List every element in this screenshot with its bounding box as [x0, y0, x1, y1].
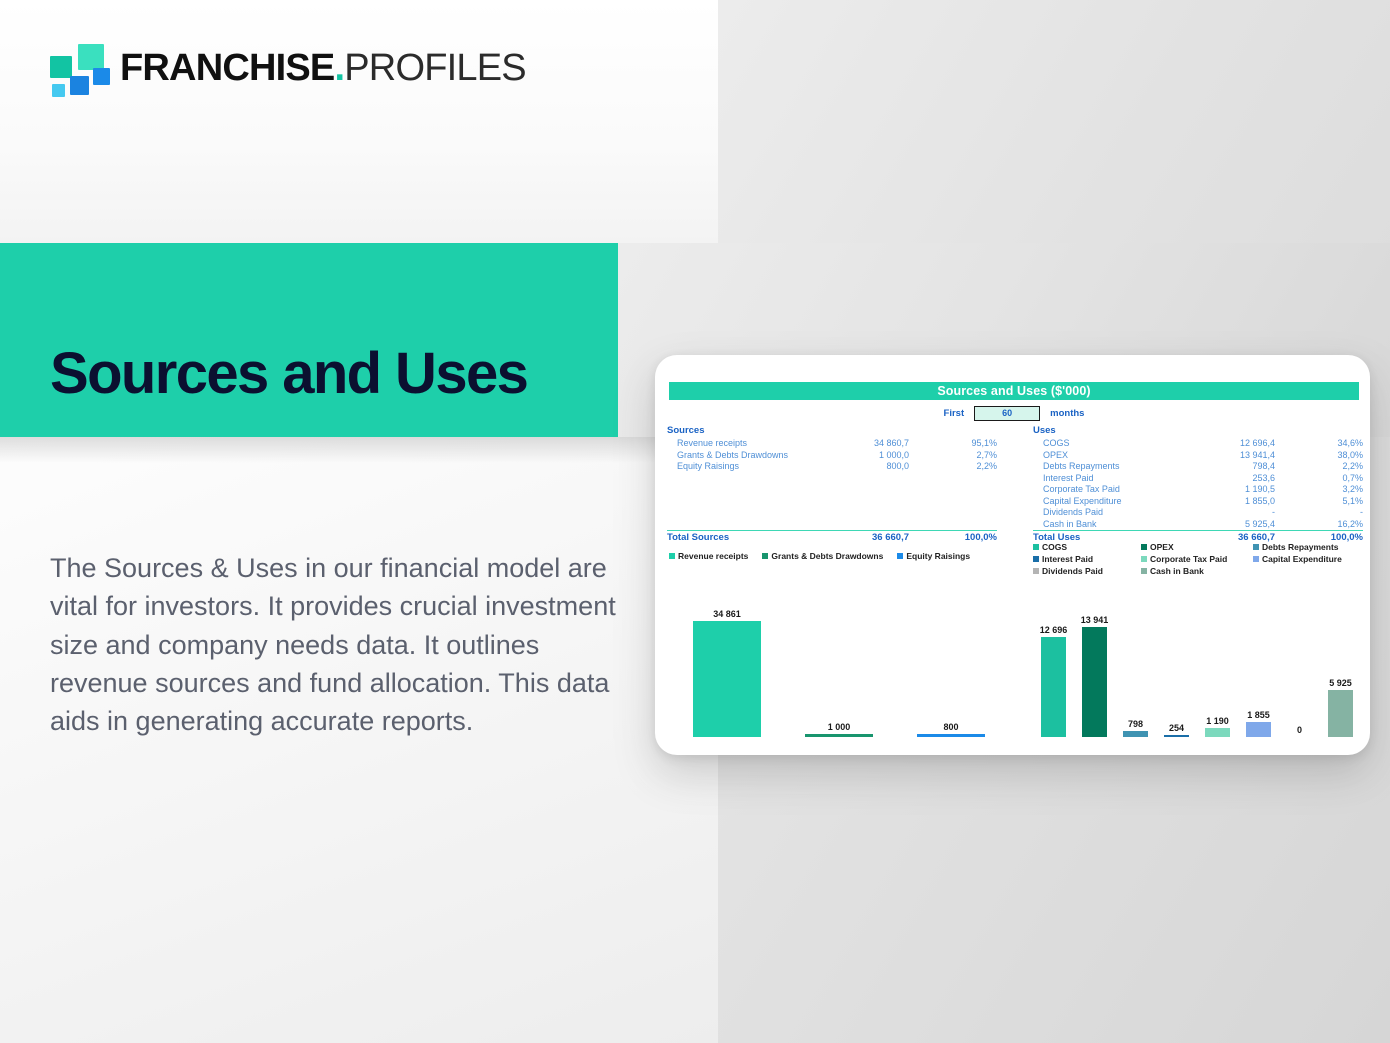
sources-legend-swatch	[669, 553, 675, 559]
sources-bar-value: 1 000	[828, 722, 851, 732]
uses-row: COGS12 696,434,6%	[1033, 438, 1363, 450]
logo-squares-icon	[48, 42, 106, 94]
uses-row: Capital Expenditure1 855,05,1%	[1033, 496, 1363, 508]
body-paragraph: The Sources & Uses in our financial mode…	[50, 549, 630, 741]
background-left-upper	[0, 0, 718, 243]
uses-row-name: Corporate Tax Paid	[1033, 484, 1203, 496]
sources-legend-label: Revenue receipts	[678, 551, 748, 561]
page-title: Sources and Uses	[50, 344, 670, 405]
uses-bar-column: 798	[1115, 597, 1156, 737]
uses-row-percent: 0,7%	[1301, 473, 1363, 485]
sources-bar-value: 800	[943, 722, 958, 732]
sources-row: Revenue receipts34 860,795,1%	[667, 438, 997, 450]
uses-legend-item: Capital Expenditure	[1253, 554, 1363, 564]
uses-legend-swatch	[1033, 544, 1039, 550]
brand-name-bold: FRANCHISE	[120, 47, 334, 89]
sources-chart-legend: Revenue receiptsGrants & Debts Drawdowns…	[669, 551, 1009, 561]
sources-table: Sources Revenue receipts34 860,795,1%Gra…	[667, 425, 997, 544]
uses-bar-value: 1 190	[1206, 716, 1229, 726]
uses-rows: COGS12 696,434,6%OPEX13 941,438,0%Debts …	[1033, 438, 1363, 530]
uses-row: Interest Paid253,60,7%	[1033, 473, 1363, 485]
sources-total-row: Total Sources 36 660,7 100,0%	[667, 530, 997, 544]
uses-row-amount: 798,4	[1203, 461, 1301, 473]
uses-row: Debts Repayments798,42,2%	[1033, 461, 1363, 473]
uses-legend-swatch	[1033, 556, 1039, 562]
uses-row-name: COGS	[1033, 438, 1203, 450]
uses-row-amount: 253,6	[1203, 473, 1301, 485]
uses-legend-label: OPEX	[1150, 542, 1174, 552]
uses-row-amount: 1 190,5	[1203, 484, 1301, 496]
sources-row-name: Equity Raisings	[667, 461, 837, 473]
uses-row-name: Cash in Bank	[1033, 519, 1203, 531]
brand-name-dot: .	[334, 47, 344, 89]
sources-total-percent: 100,0%	[935, 532, 997, 544]
uses-legend-item: Corporate Tax Paid	[1141, 554, 1253, 564]
sources-row: Grants & Debts Drawdowns1 000,02,7%	[667, 450, 997, 462]
uses-legend-label: Corporate Tax Paid	[1150, 554, 1227, 564]
sources-legend-item: Grants & Debts Drawdowns	[762, 551, 883, 561]
sources-row-percent: 2,2%	[935, 461, 997, 473]
uses-row-percent: 2,2%	[1301, 461, 1363, 473]
sources-total-label: Total Sources	[667, 532, 827, 544]
sheet-title-banner: Sources and Uses ($'000)	[669, 382, 1359, 400]
period-suffix-label: months	[1050, 408, 1084, 419]
sources-legend-label: Equity Raisings	[906, 551, 970, 561]
uses-bar	[1205, 728, 1230, 737]
uses-legend-item: OPEX	[1141, 542, 1253, 552]
uses-bar-value: 12 696	[1040, 625, 1068, 635]
uses-row-name: Debts Repayments	[1033, 461, 1203, 473]
uses-row: Dividends Paid--	[1033, 507, 1363, 519]
uses-legend-swatch	[1141, 568, 1147, 574]
uses-row-amount: 12 696,4	[1203, 438, 1301, 450]
uses-bar-value: 254	[1169, 723, 1184, 733]
sources-legend-swatch	[762, 553, 768, 559]
sources-bars: 34 8611 000800	[671, 597, 1007, 737]
uses-bar-column: 5 925	[1320, 597, 1361, 737]
uses-bar-value: 13 941	[1081, 615, 1109, 625]
sources-total-amount: 36 660,7	[827, 532, 935, 544]
sources-bar	[693, 621, 760, 737]
sources-row-amount: 34 860,7	[837, 438, 935, 450]
uses-chart-legend: COGSOPEXDebts RepaymentsInterest PaidCor…	[1033, 542, 1363, 576]
spreadsheet-content: Sources and Uses ($'000) First 60 months…	[655, 355, 1370, 755]
uses-legend-item: Interest Paid	[1033, 554, 1141, 564]
sources-rows: Revenue receipts34 860,795,1%Grants & De…	[667, 438, 997, 473]
uses-legend-item: COGS	[1033, 542, 1141, 552]
uses-legend-label: Debts Repayments	[1262, 542, 1339, 552]
uses-bar-chart: 12 69613 9417982541 1901 85505 925	[1033, 597, 1361, 737]
sources-row-amount: 800,0	[837, 461, 935, 473]
brand-logo: FRANCHISE.PROFILES	[48, 42, 526, 94]
sources-bar-chart: 34 8611 000800	[671, 597, 1007, 737]
uses-row-percent: -	[1301, 507, 1363, 519]
uses-legend-label: Cash in Bank	[1150, 566, 1204, 576]
uses-bar-column: 0	[1279, 597, 1320, 737]
uses-row: Cash in Bank5 925,416,2%	[1033, 519, 1363, 531]
sources-bar-column: 1 000	[783, 597, 895, 737]
uses-bar	[1123, 731, 1148, 737]
uses-legend-label: Interest Paid	[1042, 554, 1093, 564]
uses-bar-column: 1 190	[1197, 597, 1238, 737]
uses-row-percent: 34,6%	[1301, 438, 1363, 450]
uses-legend-swatch	[1141, 556, 1147, 562]
uses-bar-column: 13 941	[1074, 597, 1115, 737]
uses-bar	[1082, 627, 1107, 737]
uses-legend-label: COGS	[1042, 542, 1067, 552]
uses-legend-swatch	[1253, 544, 1259, 550]
sources-row-name: Grants & Debts Drawdowns	[667, 450, 837, 462]
spreadsheet-card: Sources and Uses ($'000) First 60 months…	[655, 355, 1370, 755]
sources-row-percent: 95,1%	[935, 438, 997, 450]
uses-bar	[1164, 735, 1189, 737]
band-shadow	[0, 437, 718, 463]
uses-legend-swatch	[1141, 544, 1147, 550]
sources-legend-label: Grants & Debts Drawdowns	[771, 551, 883, 561]
sources-row-name: Revenue receipts	[667, 438, 837, 450]
uses-row-amount: 1 855,0	[1203, 496, 1301, 508]
uses-bar	[1246, 722, 1271, 737]
uses-row-amount: 13 941,4	[1203, 450, 1301, 462]
uses-table: Uses COGS12 696,434,6%OPEX13 941,438,0%D…	[1033, 425, 1363, 544]
period-selector-row: First 60 months	[669, 405, 1359, 421]
sources-legend-item: Revenue receipts	[669, 551, 748, 561]
uses-table-header: Uses	[1033, 425, 1363, 436]
sources-row-percent: 2,7%	[935, 450, 997, 462]
uses-row-amount: -	[1203, 507, 1301, 519]
uses-legend-item: Cash in Bank	[1141, 566, 1253, 576]
uses-bar-column: 1 855	[1238, 597, 1279, 737]
uses-bar-column: 12 696	[1033, 597, 1074, 737]
uses-row: OPEX13 941,438,0%	[1033, 450, 1363, 462]
uses-row-percent: 38,0%	[1301, 450, 1363, 462]
sources-row: Equity Raisings800,02,2%	[667, 461, 997, 473]
uses-legend-item: Dividends Paid	[1033, 566, 1141, 576]
brand-wordmark: FRANCHISE.PROFILES	[120, 49, 526, 87]
sources-legend-item: Equity Raisings	[897, 551, 970, 561]
sources-bar-value: 34 861	[713, 609, 741, 619]
months-input[interactable]: 60	[974, 406, 1040, 421]
uses-row-name: Dividends Paid	[1033, 507, 1203, 519]
period-prefix-label: First	[944, 408, 965, 419]
sources-row-amount: 1 000,0	[837, 450, 935, 462]
brand-name-light: PROFILES	[344, 47, 526, 89]
uses-row-name: Interest Paid	[1033, 473, 1203, 485]
uses-legend-swatch	[1253, 556, 1259, 562]
uses-row-percent: 3,2%	[1301, 484, 1363, 496]
sources-spacer	[667, 473, 997, 531]
uses-legend-swatch	[1033, 568, 1039, 574]
uses-row-name: OPEX	[1033, 450, 1203, 462]
uses-bar-value: 1 855	[1247, 710, 1270, 720]
uses-bar-value: 0	[1297, 725, 1302, 735]
uses-legend-item: Debts Repayments	[1253, 542, 1363, 552]
uses-legend-label: Capital Expenditure	[1262, 554, 1342, 564]
uses-legend-label: Dividends Paid	[1042, 566, 1103, 576]
uses-bar	[1041, 637, 1066, 737]
uses-bar-value: 798	[1128, 719, 1143, 729]
sources-legend-swatch	[897, 553, 903, 559]
uses-bar-value: 5 925	[1329, 678, 1352, 688]
sources-bar-column: 800	[895, 597, 1007, 737]
uses-row-amount: 5 925,4	[1203, 519, 1301, 531]
sources-bar-column: 34 861	[671, 597, 783, 737]
sources-bar	[917, 734, 984, 737]
uses-bar-column: 254	[1156, 597, 1197, 737]
uses-row-percent: 16,2%	[1301, 519, 1363, 531]
uses-row-percent: 5,1%	[1301, 496, 1363, 508]
uses-bars: 12 69613 9417982541 1901 85505 925	[1033, 597, 1361, 737]
uses-bar	[1328, 690, 1353, 737]
sources-bar	[805, 734, 872, 737]
sources-table-header: Sources	[667, 425, 997, 436]
uses-row: Corporate Tax Paid1 190,53,2%	[1033, 484, 1363, 496]
uses-row-name: Capital Expenditure	[1033, 496, 1203, 508]
